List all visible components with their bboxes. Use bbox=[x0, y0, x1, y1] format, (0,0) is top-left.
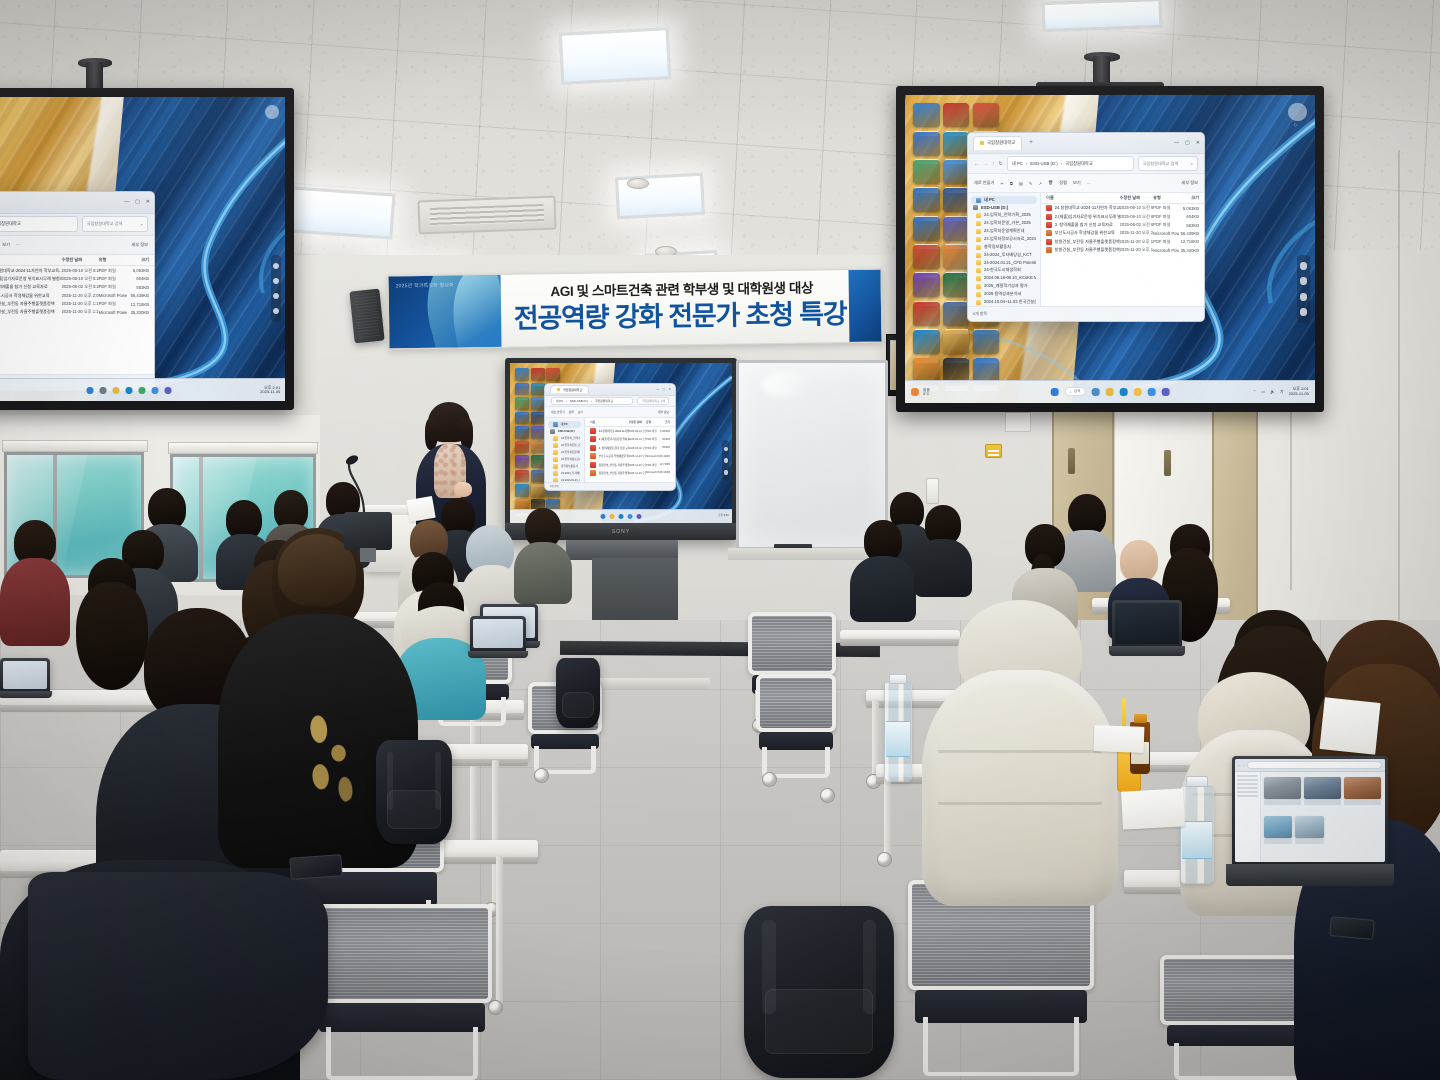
image-results-grid[interactable] bbox=[1264, 777, 1381, 805]
new-button[interactable]: 새로 만들기 bbox=[974, 180, 994, 186]
breadcrumb-folder[interactable]: 국립창원대학교 bbox=[1065, 161, 1093, 167]
orange-square-icon[interactable] bbox=[913, 358, 939, 382]
banner-blue-panel: 2025년 학과특성화 활성화 bbox=[389, 275, 502, 349]
explorer-tab[interactable]: 국립창원대학교 bbox=[973, 136, 1022, 150]
copy-icon[interactable]: ⧉ bbox=[1010, 181, 1013, 186]
excel-icon[interactable] bbox=[943, 273, 969, 297]
settings-icon[interactable] bbox=[273, 263, 279, 269]
volume-icon[interactable]: 🔊 bbox=[1270, 389, 1275, 394]
explorer-addressbar[interactable]: ← → ↑ ↻ 내 PC› ESD-USB (D:)› 국립창원대학교 국립창원… bbox=[0, 214, 154, 236]
tv-side-toolbar[interactable] bbox=[1297, 255, 1310, 323]
start-icon[interactable] bbox=[1051, 388, 1059, 396]
building-thumbnail[interactable] bbox=[1295, 816, 1324, 838]
file-list-header[interactable]: 이름 수정한 날짜 유형 크기 bbox=[1041, 193, 1204, 204]
monitor-stand bbox=[360, 548, 376, 562]
red-toolbox-icon[interactable] bbox=[913, 245, 939, 269]
door-handle[interactable] bbox=[1068, 448, 1075, 474]
explorer-toolbar[interactable]: 새로 만들기 정렬 보기 세부 정보 bbox=[545, 407, 675, 418]
file-row[interactable]: 부산도시공사 학생체감물 위한교육2025-11-20 오후 2:05Micro… bbox=[1041, 229, 1204, 237]
calculator-icon[interactable] bbox=[943, 302, 969, 326]
delete-icon[interactable]: 🗑 bbox=[1048, 180, 1053, 186]
blue-shield-icon[interactable] bbox=[973, 358, 999, 382]
orange-app-icon[interactable] bbox=[943, 245, 969, 269]
file-row[interactable]: 창원건설_부전동 자율주행플랫폼정책2025-11-20 오후 1:19PDF … bbox=[0, 300, 154, 308]
window-controls[interactable]: —▢✕ bbox=[656, 387, 671, 391]
nav-item[interactable]: 총학정보활동자 bbox=[968, 243, 1040, 251]
folder-tan-icon[interactable] bbox=[531, 484, 545, 497]
folder-icon bbox=[553, 457, 558, 462]
details-button[interactable]: 세부 정보 bbox=[658, 410, 669, 414]
minimize-icon: — bbox=[656, 387, 659, 391]
window-controls[interactable]: —▢✕ bbox=[124, 199, 150, 205]
more-button[interactable]: ··· bbox=[1087, 181, 1091, 186]
nav-item[interactable]: 24.입학처운영_기본_2025 bbox=[968, 219, 1040, 227]
notebook-sheet bbox=[1319, 697, 1380, 755]
water-bottle bbox=[1180, 786, 1214, 884]
vs-icon[interactable] bbox=[515, 455, 529, 468]
laptop-screen[interactable] bbox=[3, 661, 47, 689]
calculator-icon[interactable] bbox=[531, 470, 545, 483]
explorer-titlebar[interactable]: 국립창원대학교 —▢✕ bbox=[545, 384, 675, 396]
file-row[interactable]: 2.(제출)입기자료운영 위치표시무례 별첨자...2025-06-10 오전 … bbox=[0, 275, 154, 283]
file-explorer-icon[interactable] bbox=[1105, 388, 1113, 396]
column-type[interactable]: 유형 bbox=[646, 420, 660, 424]
screen-corner-label: ⬡ bbox=[1281, 123, 1310, 127]
explorer-addressbar[interactable]: ← → ↑ ↻ 내 PC› ESD-USB (D:)› 국립창원대학교 국립창원… bbox=[968, 154, 1204, 175]
file-row[interactable]: 3. 창의제출물 참가 신청 교육자료2025-06-02 오전 6:26PDF… bbox=[1041, 221, 1204, 229]
nav-item[interactable]: 24-2024_투자배당성_KCT bbox=[968, 251, 1040, 259]
nav-item[interactable]: 내 PC bbox=[548, 421, 581, 428]
taskbar-apps[interactable] bbox=[87, 387, 172, 394]
column-type[interactable]: 유형 bbox=[1153, 195, 1179, 201]
store-icon[interactable] bbox=[139, 387, 146, 394]
notepad-icon[interactable] bbox=[546, 368, 560, 381]
file-row[interactable]: 창원건설_부전동 자율주행플랫폼정책2025-11-20 오후 1:19Micr… bbox=[585, 469, 675, 477]
mail-icon[interactable] bbox=[515, 412, 529, 425]
nav-item[interactable]: 24.입학처운영계획안내 bbox=[968, 227, 1040, 235]
file-name: 창원건설_부전동 자율주행플랫폼정책 bbox=[599, 463, 629, 467]
explorer-nav-pane[interactable]: 내 PCESD-USB (D:)24.입학처_전략기획_202524.입학처운영… bbox=[545, 418, 585, 482]
file-row[interactable]: 2.(제출)입기자료운영 위치표시무례 별첨자...2025-06-10 오전 … bbox=[1041, 213, 1204, 221]
weather-icon[interactable] bbox=[911, 388, 919, 396]
taskbar-clock[interactable]: 오후 2:01 2025-11-05 bbox=[260, 386, 280, 395]
cut-icon[interactable]: ✂ bbox=[1000, 181, 1004, 186]
sort-button[interactable]: 정렬 bbox=[569, 410, 574, 414]
file-date: 2025-11-20 오후 1:19 bbox=[629, 463, 647, 467]
explorer-search[interactable]: 국립창원대학교 검색 ⌕ bbox=[1138, 156, 1198, 171]
file-name-cell[interactable]: 부산도시공사 학생체감물 위한교육 bbox=[590, 453, 628, 459]
column-name[interactable]: 이름 bbox=[1046, 195, 1119, 201]
ppt-file-icon bbox=[1046, 247, 1052, 253]
tv-side-toolbar[interactable] bbox=[271, 255, 281, 322]
file-row[interactable]: 창원건설_부전동 자율주행플랫폼정책2025-11-20 오후 1:19PDF … bbox=[1041, 238, 1204, 246]
new-tab-button[interactable]: + bbox=[1026, 140, 1036, 146]
board-screen[interactable]: 국립창원대학교 —▢✕ 내 PC› ESD-USB (D:)› 국립창원대학교 … bbox=[510, 363, 732, 523]
taskbar-clock[interactable]: 오후 2:01 bbox=[718, 515, 729, 518]
explorer-toolbar[interactable]: 새로 만들기 ✂ ⧉ 📋 ✎ ↗ 🗑 정렬 보기 ··· 세부 정보 bbox=[0, 236, 154, 256]
file-name-cell[interactable]: 창원건설_부전동 자율주행플랫폼정책 bbox=[0, 309, 62, 315]
smartphone[interactable] bbox=[289, 854, 342, 880]
orange-app-icon[interactable] bbox=[531, 441, 545, 454]
file-row[interactable]: 부산도시공사 학생체감물 위한교육2025-11-20 오후 2:05Micro… bbox=[585, 452, 675, 460]
file-type: PDF 파일 bbox=[99, 268, 128, 274]
explorer-titlebar[interactable]: 국립창원대학교 + —▢✕ bbox=[0, 192, 154, 214]
file-row[interactable]: 24.창원대학교-2024-11차연차 학부교육...2025-06-10 오전… bbox=[1041, 204, 1204, 212]
breadcrumb[interactable]: 내 PC› ESD-USB (D:)› 국립창원대학교 bbox=[551, 397, 633, 405]
file-size: 604KB bbox=[660, 438, 670, 441]
edge-icon[interactable] bbox=[619, 514, 624, 519]
wall-speaker bbox=[349, 289, 384, 344]
nav-item[interactable]: 24.입학처_전략기획_2025 bbox=[545, 435, 584, 442]
notepad-icon[interactable] bbox=[973, 103, 999, 127]
chair-caster bbox=[820, 788, 835, 803]
chrome-icon[interactable] bbox=[1147, 388, 1155, 396]
file-explorer-icon[interactable] bbox=[113, 387, 120, 394]
file-name-cell[interactable]: 2.(제출)입기자료운영 위치표시무례 별첨자... bbox=[0, 276, 62, 282]
nav-item[interactable]: 24.입학처_전략기획_2025 bbox=[968, 211, 1040, 219]
explorer-titlebar[interactable]: 국립창원대학교 + —▢✕ bbox=[968, 133, 1204, 154]
student-laptop[interactable] bbox=[470, 616, 526, 658]
sidebar-line bbox=[1237, 783, 1258, 785]
desk-leg bbox=[470, 712, 477, 844]
nav-item[interactable]: 24.입학처운영_기본_2025 bbox=[545, 442, 584, 449]
taskbar-tray[interactable]: 오후 2:01 2025-11-05 bbox=[260, 386, 280, 395]
window-controls[interactable]: —▢✕ bbox=[1174, 140, 1200, 146]
file-row[interactable]: 24.창원대학교-2024-11차연차 학부교육...2025-06-10 오전… bbox=[585, 427, 675, 435]
file-name-cell[interactable]: 창원건설_부전동 자율주행플랫폼정책 bbox=[1046, 247, 1119, 253]
room-notice-sign bbox=[985, 444, 1002, 458]
nav-item-label: 24.입학처정보공시자료_2024연차기 bbox=[561, 457, 580, 461]
nav-item[interactable]: 24.입학처운영계획안내 bbox=[545, 449, 584, 456]
screenshot-icon[interactable] bbox=[273, 293, 279, 299]
adobe-acrobat-icon[interactable] bbox=[943, 103, 969, 127]
breadcrumb-folder[interactable]: 국립창원대학교 bbox=[595, 399, 613, 403]
folder-icon[interactable] bbox=[1133, 388, 1141, 396]
more-button[interactable]: ··· bbox=[16, 242, 20, 247]
right-tv-screen[interactable]: ⬡ 국립창원대학교 + —▢✕ ← → ↑ ↻ 내 PC bbox=[905, 95, 1315, 403]
red-toolbox-icon[interactable] bbox=[515, 441, 529, 454]
breadcrumb-pc[interactable]: 내 PC bbox=[556, 399, 563, 403]
bottle-cap bbox=[1134, 714, 1147, 723]
column-date[interactable]: 수정한 날짜 bbox=[1120, 195, 1154, 201]
file-size: 56,439KB bbox=[1179, 231, 1199, 236]
start-icon[interactable] bbox=[601, 514, 606, 519]
edge-icon[interactable] bbox=[126, 387, 133, 394]
file-name-cell[interactable]: 부산도시공사 학생체감물 위한교육 bbox=[1046, 230, 1119, 236]
teams-icon[interactable] bbox=[1161, 388, 1169, 396]
file-row[interactable]: 창원건설_부전동 자율주행플랫폼정책2025-11-20 오후 1:19Micr… bbox=[1041, 246, 1204, 254]
back-arrow-icon[interactable] bbox=[273, 308, 279, 314]
browser-url-bar[interactable] bbox=[1247, 761, 1382, 768]
blue-doc-icon[interactable] bbox=[515, 426, 529, 439]
left-display-tv[interactable]: 국립창원대학교 + —▢✕ ← → ↑ ↻ 내 PC› ESD-USB (D:)… bbox=[0, 88, 294, 410]
nav-item-label: 24.입학처운영계획안내 bbox=[984, 228, 1025, 234]
browser-forward-icon[interactable]: → bbox=[1243, 764, 1246, 767]
pdf-file-icon bbox=[1046, 214, 1052, 220]
breadcrumb[interactable]: 내 PC› ESD-USB (D:)› 국립창원대학교 bbox=[0, 216, 78, 231]
ime-icon[interactable]: 가 bbox=[1280, 389, 1284, 395]
tv-side-toolbar[interactable] bbox=[722, 440, 729, 482]
file-date: 2025-06-10 오전 6:22 bbox=[1120, 214, 1154, 220]
screenshot-icon[interactable] bbox=[1300, 293, 1308, 301]
screenshot-icon[interactable] bbox=[724, 470, 728, 474]
edge-blue-icon[interactable] bbox=[515, 484, 529, 497]
column-name[interactable]: 이름 bbox=[0, 257, 62, 263]
laptop-keyboard-base[interactable] bbox=[0, 691, 52, 698]
breadcrumb-drive[interactable]: ESD-USB (D:) bbox=[1030, 161, 1057, 166]
edge-icon[interactable] bbox=[1119, 388, 1127, 396]
paste-icon[interactable]: ▤ bbox=[1019, 181, 1023, 186]
taskbar-tray[interactable]: 오후 2:01 bbox=[718, 515, 729, 518]
chrome-icon[interactable] bbox=[628, 514, 633, 519]
file-name-cell[interactable]: 창원건설_부전동 자율주행플랫폼정책 bbox=[1046, 239, 1119, 245]
bottle-label bbox=[1182, 821, 1212, 859]
file-list-header[interactable]: 이름 수정한 날짜 유형 크기 bbox=[585, 418, 675, 427]
file-name-cell[interactable]: 3. 창의제출물 참가 신청 교육자료 bbox=[0, 284, 62, 290]
chrome-icon[interactable] bbox=[531, 397, 545, 410]
details-button[interactable]: 세부 정보 bbox=[1181, 180, 1198, 186]
student-laptop[interactable]: ← → bbox=[1232, 756, 1388, 886]
laptop-keyboard-base[interactable] bbox=[468, 651, 528, 658]
file-row[interactable]: 2.(제출)입기자료운영 위치표시무례 별첨자...2025-06-10 오전 … bbox=[585, 435, 675, 443]
browser-sidebar[interactable] bbox=[1235, 772, 1261, 862]
word-icon[interactable] bbox=[531, 412, 545, 425]
windows-taskbar[interactable]: 오후 2:01 2025-11-05 bbox=[0, 378, 285, 401]
red-pdf-icon[interactable] bbox=[913, 302, 939, 326]
dropbox-icon[interactable] bbox=[913, 132, 939, 156]
taskbar-clock[interactable]: 오후 2:01 2025-11-05 bbox=[1289, 387, 1309, 396]
building-thumbnail[interactable] bbox=[1344, 777, 1381, 799]
back-arrow-icon[interactable] bbox=[1300, 308, 1308, 316]
nav-item[interactable]: 24-2024.01.21_CFD Potential applicabilit… bbox=[968, 259, 1040, 266]
nav-item[interactable]: ESD-USB (D:) bbox=[968, 204, 1040, 211]
nav-item-label: 2025_계절학기성과 평가 bbox=[984, 283, 1028, 289]
file-row[interactable]: 부산도시공사 학생체감물 위한교육2025-11-20 오후 2:05Micro… bbox=[0, 291, 154, 299]
nav-item[interactable]: 총학정보활동자 bbox=[545, 463, 584, 470]
rename-icon[interactable]: ✎ bbox=[1029, 181, 1033, 186]
nav-item[interactable]: ESD-USB (D:) bbox=[545, 428, 584, 435]
vs-icon[interactable] bbox=[913, 273, 939, 297]
word-icon[interactable] bbox=[943, 188, 969, 212]
dropbox-icon[interactable] bbox=[515, 383, 529, 396]
explorer-search[interactable]: 국립창원대학교 검색 ⌕ bbox=[82, 216, 148, 231]
laptop-keyboard-base[interactable] bbox=[1226, 864, 1394, 886]
teams-icon[interactable] bbox=[637, 514, 642, 519]
blue-doc-icon[interactable] bbox=[913, 217, 939, 241]
edge-icon[interactable] bbox=[943, 132, 969, 156]
student-laptop[interactable] bbox=[0, 658, 50, 698]
file-name-cell[interactable]: 3. 창의제출물 참가 신청 교육자료 bbox=[590, 445, 628, 451]
file-name-cell[interactable]: 2.(제출)입기자료운영 위치표시무례 별첨자... bbox=[1046, 214, 1119, 220]
banner-title: 전공역량 강화 전문가 초청 특강 bbox=[503, 292, 858, 336]
tool-dark-icon[interactable] bbox=[943, 358, 969, 382]
file-name-cell[interactable]: 부산도시공사 학생체감물 위한교육 bbox=[0, 293, 62, 299]
taskbar-apps[interactable]: ⌕ 검색 bbox=[1051, 387, 1170, 396]
up-icon[interactable]: ↑ bbox=[992, 161, 995, 167]
nav-item[interactable]: 2024.06.18-08.10_KCoKE Meeting_제주학회자료_ bbox=[968, 274, 1040, 282]
nav-item[interactable]: 24-2024_투자배당성_KCT bbox=[545, 470, 584, 477]
file-name-cell[interactable]: 3. 창의제출물 참가 신청 교육자료 bbox=[1046, 222, 1119, 228]
new-button[interactable]: 새로 만들기 bbox=[551, 410, 565, 414]
pen-icon[interactable] bbox=[724, 458, 728, 462]
nav-item[interactable]: 내 PC bbox=[971, 196, 1037, 204]
view-button[interactable]: 보기 bbox=[1073, 180, 1081, 186]
refresh-icon[interactable]: ↻ bbox=[999, 161, 1003, 167]
laptop-keyboard-base[interactable] bbox=[1109, 646, 1185, 656]
explorer-tab[interactable]: 국립창원대학교 bbox=[550, 385, 589, 393]
windows-taskbar[interactable]: 맑음5°C ⌕ 검색 ⌃ ▭ bbox=[905, 380, 1315, 403]
file-explorer-window[interactable]: 국립창원대학교 —▢✕ 내 PC› ESD-USB (D:)› 국립창원대학교 … bbox=[544, 383, 676, 491]
building-thumbnail[interactable] bbox=[1264, 777, 1301, 799]
nav-item-label: 총학정보활동자 bbox=[561, 464, 578, 468]
widgets-icon[interactable] bbox=[1091, 388, 1099, 396]
door-handle[interactable] bbox=[1164, 450, 1171, 476]
nav-item-label: 내 PC bbox=[984, 197, 995, 203]
file-name-cell[interactable]: 24.창원대학교-2024-11차연차 학부교육... bbox=[590, 428, 628, 434]
pen-icon[interactable] bbox=[1300, 277, 1308, 285]
breadcrumb-folder[interactable]: 국립창원대학교 bbox=[0, 221, 21, 227]
details-button[interactable]: 세부 정보 bbox=[131, 242, 148, 248]
column-name[interactable]: 이름 bbox=[590, 420, 628, 424]
nav-item[interactable]: 2024.10.04~11.03 한국건설순환자원학회 기획 bbox=[968, 298, 1040, 306]
settings-icon[interactable] bbox=[1300, 262, 1308, 270]
ppt-file-icon bbox=[1046, 230, 1052, 236]
network-icon[interactable]: ▭ bbox=[1261, 389, 1265, 394]
column-size[interactable]: 크기 bbox=[1179, 195, 1199, 201]
edge-icon[interactable] bbox=[531, 383, 545, 396]
back-icon[interactable]: ← bbox=[974, 161, 979, 167]
file-row[interactable]: 3. 창의제출물 참가 신청 교육자료2025-06-02 오전 6:26PDF… bbox=[0, 283, 154, 291]
smartphone[interactable] bbox=[1329, 916, 1375, 940]
explorer-nav-pane[interactable]: 내 PCESD-USB (D:)24.입학처_전략기획_202524.입학처운영… bbox=[968, 193, 1041, 306]
teams-icon[interactable] bbox=[531, 426, 545, 439]
explorer-file-list[interactable]: 이름 수정한 날짜 유형 크기 24.창원대학교-2024-11차연차 학부교육… bbox=[0, 255, 154, 374]
map-icon[interactable] bbox=[913, 160, 939, 184]
file-row[interactable]: 3. 창의제출물 참가 신청 교육자료2025-06-02 오전 6:26PDF… bbox=[585, 444, 675, 452]
file-name-cell[interactable]: 창원건설_부전동 자율주행플랫폼정책 bbox=[590, 462, 628, 468]
file-name-cell[interactable]: 창원건설_부전동 자율주행플랫폼정책 bbox=[590, 470, 628, 476]
left-tv-screen[interactable]: 국립창원대학교 + —▢✕ ← → ↑ ↻ 내 PC› ESD-USB (D:)… bbox=[0, 97, 285, 401]
ceiling-air-conditioner bbox=[417, 196, 556, 235]
view-button[interactable]: 보기 bbox=[2, 242, 10, 248]
image-results-grid-row2[interactable] bbox=[1264, 816, 1324, 844]
edge-blue-icon[interactable] bbox=[913, 330, 939, 354]
teams-icon[interactable] bbox=[165, 387, 172, 394]
file-name-cell[interactable]: 24.창원대학교-2024-11차연차 학부교육... bbox=[0, 268, 62, 274]
chrome-icon[interactable] bbox=[943, 160, 969, 184]
map-icon[interactable] bbox=[515, 397, 529, 410]
file-name-cell[interactable]: 창원건설_부전동 자율주행플랫폼정책 bbox=[0, 301, 62, 307]
share-icon[interactable]: ↗ bbox=[1038, 181, 1042, 186]
file-type: Microsoft PowerP... bbox=[1153, 248, 1179, 253]
file-row[interactable]: 24.창원대학교-2024-11차연차 학부교육...2025-06-10 오전… bbox=[0, 266, 154, 274]
nav-item-label: 총학정보활동자 bbox=[984, 244, 1011, 250]
ppt-file-icon bbox=[590, 453, 596, 459]
minimize-icon: — bbox=[124, 199, 129, 205]
explorer-file-list[interactable]: 이름 수정한 날짜 유형 크기 24.창원대학교-2024-11차연차 학부교육… bbox=[585, 418, 675, 482]
file-explorer-icon[interactable] bbox=[610, 514, 615, 519]
chevron-up-icon[interactable]: ⌃ bbox=[1253, 389, 1256, 394]
laptop-screen[interactable] bbox=[1115, 603, 1179, 644]
breadcrumb-drive[interactable]: ESD-USB (D:) bbox=[570, 399, 588, 403]
adobe-acrobat-icon[interactable] bbox=[531, 368, 545, 381]
settings-icon[interactable] bbox=[724, 447, 728, 451]
chrome-icon[interactable] bbox=[152, 387, 159, 394]
pdf-file-icon bbox=[590, 428, 596, 434]
taskbar-tray[interactable]: ⌃ ▭ 🔊 가 오후 2:01 2025-11-05 bbox=[1253, 387, 1309, 396]
taskbar-left[interactable]: 맑음5°C bbox=[911, 388, 930, 396]
explorer-body: 내 PCESD-USB (D:)24.입학처_전략기획_202524.입학처운영… bbox=[545, 418, 675, 482]
folder-tan-icon[interactable] bbox=[943, 330, 969, 354]
blue-app-icon[interactable] bbox=[913, 103, 939, 127]
building-thumbnail[interactable] bbox=[1264, 816, 1293, 838]
nav-item[interactable]: 24.입학처정보공시자료_2024연차기 bbox=[545, 456, 584, 463]
file-explorer-window[interactable]: 국립창원대학교 + —▢✕ ← → ↑ ↻ 내 PC› ESD-USB (D:)… bbox=[0, 191, 155, 391]
excel-icon[interactable] bbox=[531, 455, 545, 468]
start-icon[interactable] bbox=[87, 387, 94, 394]
red-pdf-icon[interactable] bbox=[515, 470, 529, 483]
pen-icon[interactable] bbox=[273, 278, 279, 284]
explorer-file-list[interactable]: 이름 수정한 날짜 유형 크기 24.창원대학교-2024-11차연차 학부교육… bbox=[1041, 193, 1204, 306]
browser-toolbar[interactable]: ← → bbox=[1235, 759, 1385, 772]
building-thumbnail[interactable] bbox=[1304, 777, 1341, 799]
breadcrumb[interactable]: 내 PC› ESD-USB (D:)› 국립창원대학교 bbox=[1007, 156, 1134, 171]
ceiling-light bbox=[1042, 0, 1163, 32]
nav-item[interactable]: 24-한국도시재생학회 bbox=[968, 266, 1040, 274]
nav-item[interactable]: 2025 용역성과분석서 bbox=[968, 290, 1040, 298]
audience-person bbox=[0, 520, 70, 640]
file-list-header[interactable]: 이름 수정한 날짜 유형 크기 bbox=[0, 255, 154, 266]
lecture-hall-photo: 2025년 학과특성화 활성화 AGI 및 스마트건축 관련 학부생 및 대학원… bbox=[0, 0, 1440, 1080]
column-date[interactable]: 수정한 날짜 bbox=[629, 420, 647, 424]
laptop-screen[interactable] bbox=[473, 619, 523, 648]
right-display-tv[interactable]: ⬡ 국립창원대학교 + —▢✕ ← → ↑ ↻ 내 PC bbox=[896, 86, 1324, 412]
draped-coat bbox=[28, 872, 328, 1080]
sort-button[interactable]: 정렬 bbox=[1059, 180, 1067, 186]
forward-icon[interactable]: → bbox=[983, 161, 988, 167]
folder-icon bbox=[976, 213, 981, 218]
browser-back-icon[interactable]: ← bbox=[1238, 764, 1241, 767]
view-button[interactable]: 보기 bbox=[578, 410, 583, 414]
blue-app-icon[interactable] bbox=[515, 368, 529, 381]
taskbar-apps[interactable] bbox=[601, 514, 642, 519]
explorer-search[interactable]: 국립창원대학교 검색 bbox=[637, 397, 669, 405]
mail-icon[interactable] bbox=[913, 188, 939, 212]
desktop-monitor[interactable] bbox=[344, 512, 392, 550]
column-date[interactable]: 수정한 날짜 bbox=[62, 257, 99, 263]
teams-icon[interactable] bbox=[943, 217, 969, 241]
taskbar-search-box[interactable]: ⌕ 검색 bbox=[1065, 387, 1086, 396]
column-size[interactable]: 크기 bbox=[127, 257, 149, 263]
file-name-cell[interactable]: 24.창원대학교-2024-11차연차 학부교육... bbox=[1046, 205, 1119, 211]
column-size[interactable]: 크기 bbox=[660, 420, 670, 424]
file-row[interactable]: 창원건설_부전동 자율주행플랫폼정책2025-11-20 오후 1:19Micr… bbox=[0, 308, 154, 316]
clock-date: 2025-11-05 bbox=[260, 390, 280, 395]
explorer-addressbar[interactable]: 내 PC› ESD-USB (D:)› 국립창원대학교 국립창원대학교 검색 bbox=[545, 396, 675, 408]
laptop-screen[interactable]: ← → bbox=[1235, 759, 1385, 862]
column-type[interactable]: 유형 bbox=[99, 257, 128, 263]
gear-app-icon[interactable] bbox=[973, 330, 999, 354]
file-explorer-window[interactable]: 국립창원대학교 + —▢✕ ← → ↑ ↻ 내 PC› ESD-USB (D:)… bbox=[967, 132, 1205, 322]
breadcrumb-pc[interactable]: 내 PC bbox=[1012, 161, 1023, 167]
file-name-cell[interactable]: 2.(제출)입기자료운영 위치표시무례 별첨자... bbox=[590, 436, 628, 442]
student-laptop[interactable] bbox=[1112, 600, 1182, 656]
nav-item[interactable]: 24.입학처정보공시자료_2024연차기 bbox=[968, 235, 1040, 243]
file-row[interactable]: 창원건설_부전동 자율주행플랫폼정책2025-11-20 오후 1:19PDF … bbox=[585, 460, 675, 468]
search-icon[interactable] bbox=[100, 387, 107, 394]
nav-item[interactable]: 2025_계절학기성과 평가 bbox=[968, 282, 1040, 290]
explorer-toolbar[interactable]: 새로 만들기 ✂ ⧉ ▤ ✎ ↗ 🗑 정렬 보기 ··· 세부 정보 bbox=[968, 174, 1204, 193]
